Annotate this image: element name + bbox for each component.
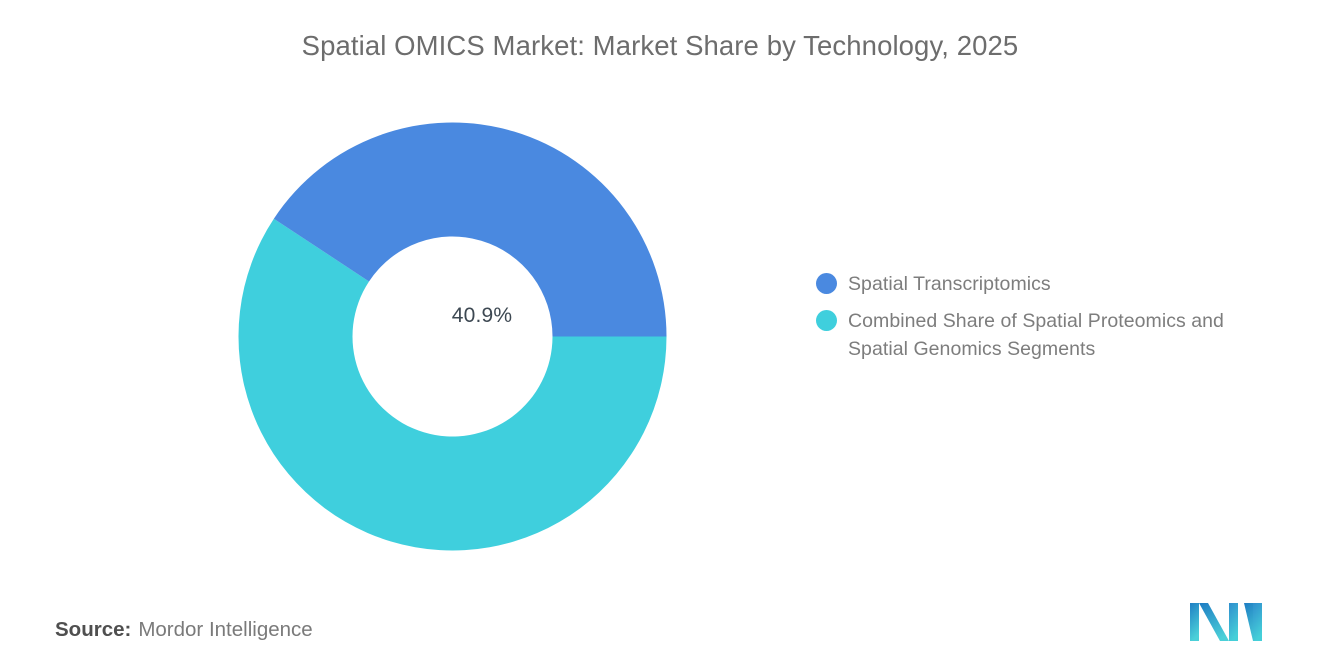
legend-label-combined-share: Combined Share of Spatial Proteomics and… [848, 307, 1286, 363]
donut-chart-svg [238, 122, 667, 551]
legend-swatch-spatial-transcriptomics [816, 273, 837, 294]
chart-legend: Spatial Transcriptomics Combined Share o… [816, 270, 1286, 372]
legend-item-combined-share[interactable]: Combined Share of Spatial Proteomics and… [816, 307, 1286, 363]
legend-swatch-combined-share [816, 310, 837, 331]
legend-label-spatial-transcriptomics: Spatial Transcriptomics [848, 270, 1051, 298]
source-line: Source:Mordor Intelligence [55, 618, 313, 642]
donut-chart: 40.9% [238, 122, 667, 551]
source-label: Source: [55, 618, 131, 641]
page-title: Spatial OMICS Market: Market Share by Te… [0, 30, 1320, 62]
source-value: Mordor Intelligence [138, 618, 312, 641]
mordor-intelligence-logo-icon [1188, 599, 1264, 645]
legend-item-spatial-transcriptomics[interactable]: Spatial Transcriptomics [816, 270, 1286, 298]
chart-figure: Spatial OMICS Market: Market Share by Te… [0, 0, 1320, 665]
logo-mark-icon [1188, 599, 1264, 645]
